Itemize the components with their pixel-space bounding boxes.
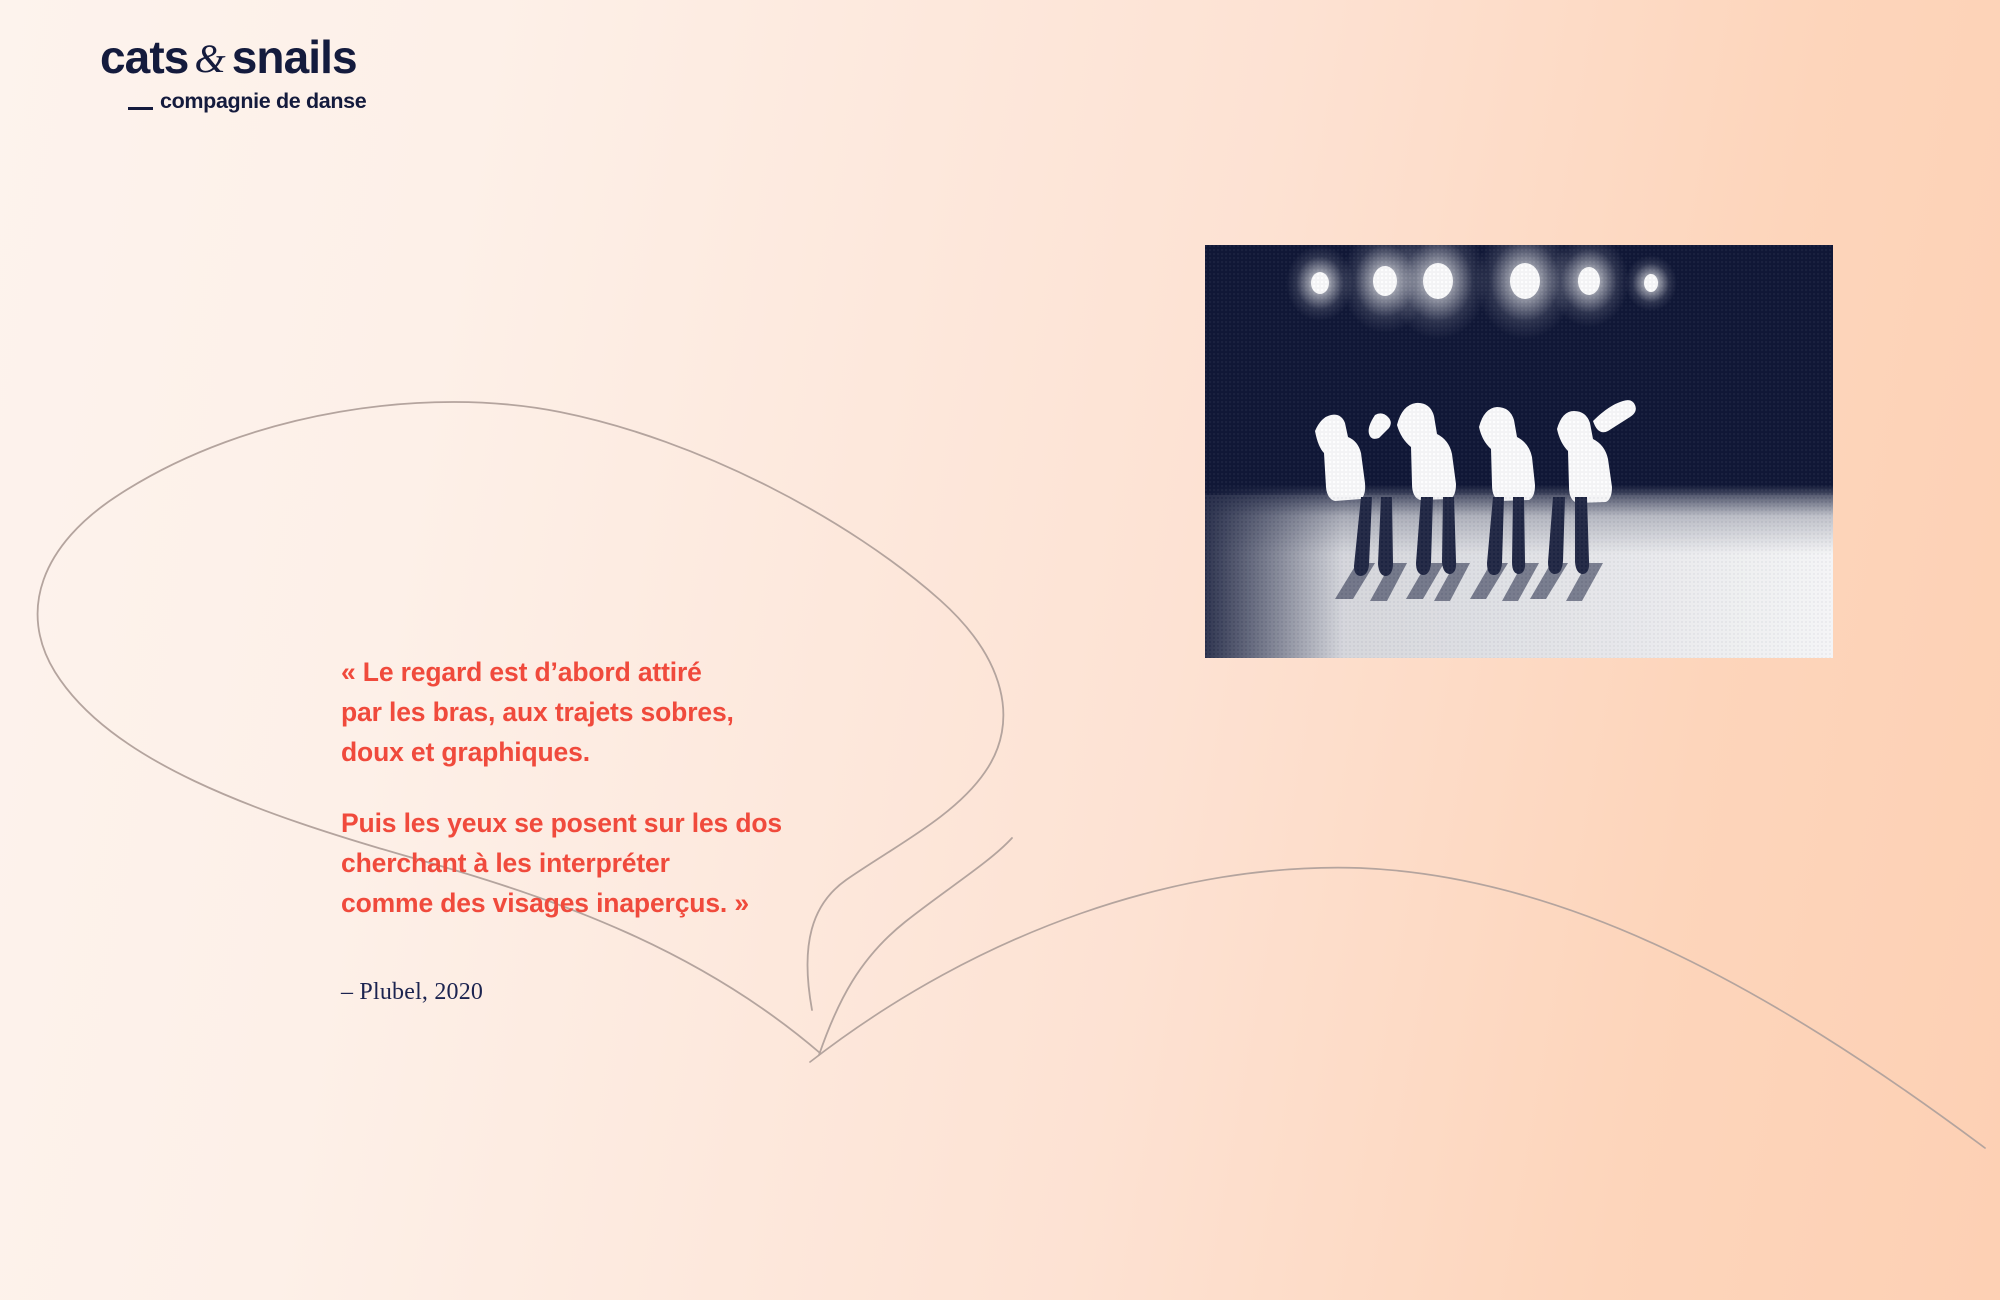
quote-line: « Le regard est d’abord attiré [341, 657, 702, 687]
quote-line: cherchant à les interpréter [341, 848, 670, 878]
brand-name: cats & snails [100, 34, 430, 80]
brand-tagline-text: compagnie de danse [160, 89, 366, 114]
brand-tagline: compagnie de danse [128, 89, 430, 114]
slide-canvas: cats & snails compagnie de danse [0, 0, 2000, 1300]
stage-photo [1205, 245, 1833, 658]
background-arc [810, 868, 1985, 1148]
dash-rule-icon [128, 107, 153, 110]
quote-line: doux et graphiques. [341, 737, 590, 767]
quote-line: par les bras, aux trajets sobres, [341, 697, 734, 727]
quote-attribution: – Plubel, 2020 [341, 979, 861, 1006]
stage-photo-graphic [1205, 245, 1833, 658]
brand-ampersand: & [188, 39, 231, 79]
brand-name-part2: snails [232, 34, 357, 80]
quote-paragraph-2: Puis les yeux se posent sur les dos cher… [341, 803, 861, 923]
quote-line: Puis les yeux se posent sur les dos [341, 808, 782, 838]
quote-paragraph-1: « Le regard est d’abord attiré par les b… [341, 652, 861, 772]
quote-line: comme des visages inaperçus. » [341, 888, 749, 918]
brand-name-part1: cats [100, 34, 188, 80]
pull-quote: « Le regard est d’abord attiré par les b… [341, 652, 861, 1006]
brand-logo[interactable]: cats & snails compagnie de danse [100, 34, 430, 114]
